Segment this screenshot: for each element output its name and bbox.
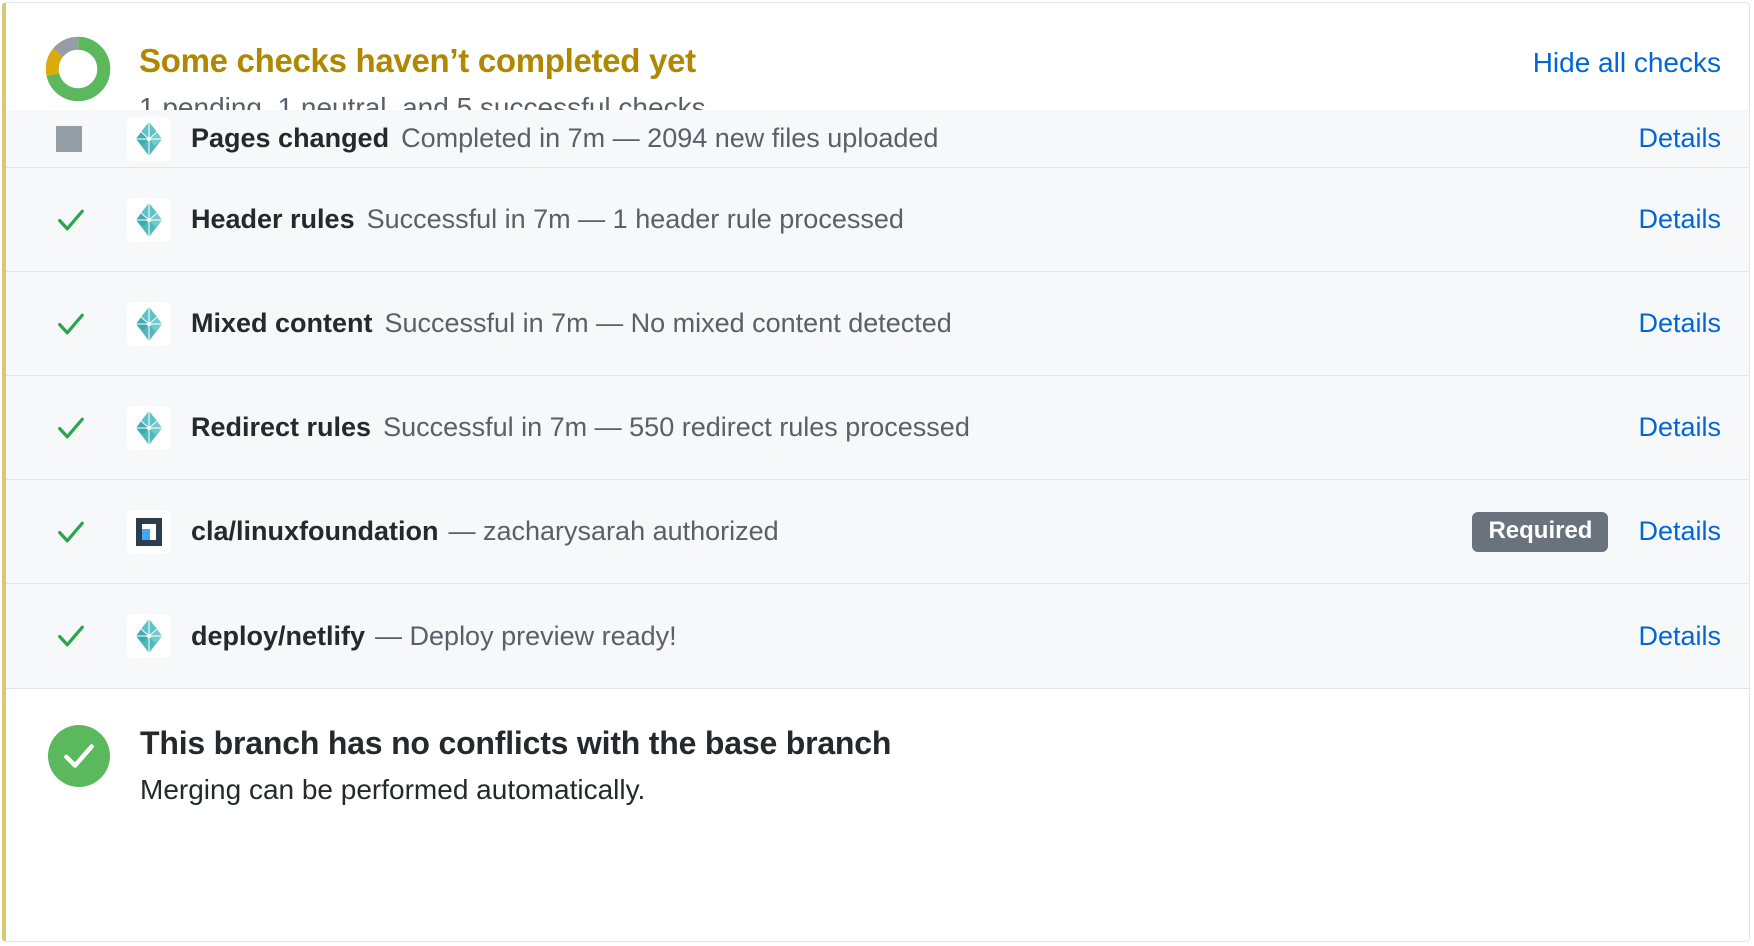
checks-status-title: Some checks haven’t completed yet	[139, 40, 706, 82]
merge-status-box: Some checks haven’t completed yet 1 pend…	[2, 2, 1750, 942]
details-link[interactable]: Details	[1638, 516, 1721, 547]
check-circle-icon	[48, 725, 110, 787]
check-mark-icon	[56, 517, 102, 547]
hide-all-checks-link[interactable]: Hide all checks	[1533, 47, 1721, 79]
checks-donut-chart	[44, 35, 112, 103]
table-row[interactable]: deploy/netlify — Deploy preview ready! D…	[6, 584, 1749, 688]
netlify-diamond-icon	[127, 198, 171, 242]
check-name: cla/linuxfoundation	[191, 516, 439, 547]
netlify-diamond-icon	[127, 406, 171, 450]
check-mark-icon	[56, 309, 102, 339]
checks-list: Pages changed Completed in 7m — 2094 new…	[6, 155, 1749, 688]
table-row[interactable]: Mixed content Successful in 7m — No mixe…	[6, 272, 1749, 376]
check-name: Pages changed	[191, 123, 389, 154]
table-row[interactable]: cla/linuxfoundation — zacharysarah autho…	[6, 480, 1749, 584]
linux-foundation-icon	[127, 510, 171, 554]
check-description: — zacharysarah authorized	[449, 516, 779, 547]
neutral-square-icon	[56, 126, 102, 152]
check-name: Header rules	[191, 204, 355, 235]
table-row[interactable]: Redirect rules Successful in 7m — 550 re…	[6, 376, 1749, 480]
check-mark-icon	[56, 621, 102, 651]
netlify-diamond-icon	[127, 302, 171, 346]
merge-state-text: This branch has no conflicts with the ba…	[140, 723, 891, 807]
check-name: Mixed content	[191, 308, 373, 339]
check-mark-icon	[56, 205, 102, 235]
check-description: Successful in 7m — 1 header rule process…	[367, 204, 904, 235]
table-row[interactable]: Pages changed Completed in 7m — 2094 new…	[6, 110, 1749, 168]
merge-state-title: This branch has no conflicts with the ba…	[140, 723, 891, 763]
netlify-diamond-icon	[127, 614, 171, 658]
details-link[interactable]: Details	[1638, 204, 1721, 235]
check-description: — Deploy preview ready!	[375, 621, 677, 652]
check-name: deploy/netlify	[191, 621, 365, 652]
netlify-diamond-icon	[127, 117, 171, 161]
check-description: Successful in 7m — 550 redirect rules pr…	[383, 412, 970, 443]
table-row[interactable]: Header rules Successful in 7m — 1 header…	[6, 168, 1749, 272]
merge-state-subtitle: Merging can be performed automatically.	[140, 773, 891, 807]
details-link[interactable]: Details	[1638, 621, 1721, 652]
merge-state-section: This branch has no conflicts with the ba…	[6, 688, 1749, 941]
check-mark-icon	[56, 413, 102, 443]
details-link[interactable]: Details	[1638, 123, 1721, 154]
check-name: Redirect rules	[191, 412, 371, 443]
details-link[interactable]: Details	[1638, 308, 1721, 339]
details-link[interactable]: Details	[1638, 412, 1721, 443]
check-description: Successful in 7m — No mixed content dete…	[385, 308, 952, 339]
check-description: Completed in 7m — 2094 new files uploade…	[401, 123, 938, 154]
status-badge: Required	[1472, 512, 1608, 552]
